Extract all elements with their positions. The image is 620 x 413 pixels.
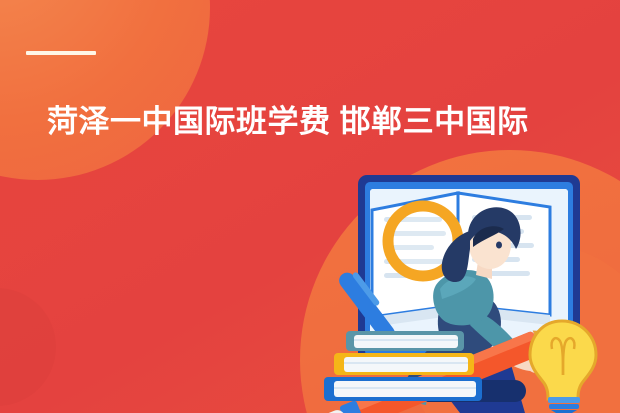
accent-rule — [26, 51, 96, 55]
online-learning-illustration — [310, 165, 610, 413]
book-middle — [334, 353, 474, 375]
light-bulb — [530, 321, 596, 413]
book-stack — [324, 331, 482, 401]
book-bottom — [324, 377, 482, 401]
book-top — [346, 331, 464, 351]
promo-banner: 菏泽一中国际班学费 邯郸三中国际 — [0, 0, 620, 413]
page-title: 菏泽一中国际班学费 邯郸三中国际 — [47, 102, 587, 142]
